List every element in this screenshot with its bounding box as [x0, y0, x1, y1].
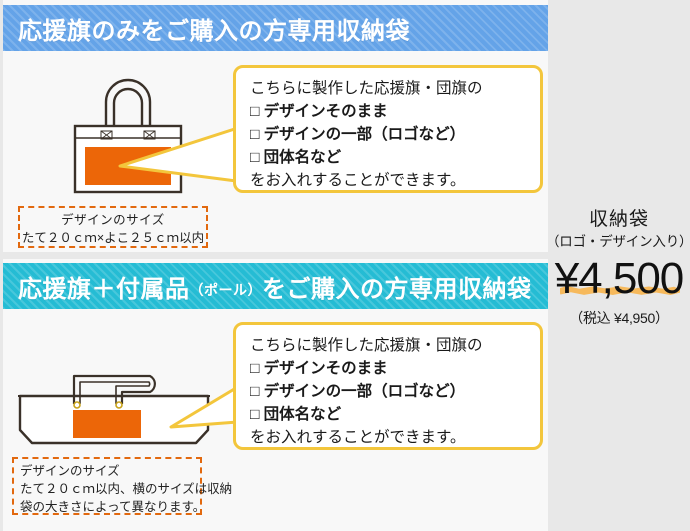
- callout-line-5: をお入れすることができます。: [250, 169, 540, 192]
- size-note-line-1: デザインのサイズ: [20, 462, 200, 480]
- section-two-header-text: 応援旗＋付属品（ポール）をご購入の方専用収納袋: [18, 269, 532, 304]
- callout-line-3: □ デザインの一部（ロゴなど）: [250, 123, 540, 146]
- price-amount: ¥4,500: [548, 256, 690, 302]
- callout-line-2: □ デザインそのまま: [250, 357, 540, 380]
- callout-two-text: こちらに製作した応援旗・団旗の □ デザインそのまま □ デザインの一部（ロゴな…: [236, 325, 540, 449]
- design-size-note-one: デザインのサイズ たて２０ｃｍ×よこ２５ｃｍ以内: [18, 206, 208, 248]
- callout-line-4: □ 団体名など: [250, 146, 540, 169]
- callout-line-1: こちらに製作した応援旗・団旗の: [250, 334, 540, 357]
- header-two-part-2: をご購入の方専用収納袋: [262, 276, 532, 303]
- section-two-header: 応援旗＋付属品（ポール）をご購入の方専用収納袋: [3, 263, 548, 309]
- design-area: [73, 410, 141, 438]
- callout-box-one: こちらに製作した応援旗・団旗の □ デザインそのまま □ デザインの一部（ロゴな…: [233, 65, 543, 193]
- callout-box-two: こちらに製作した応援旗・団旗の □ デザインそのまま □ デザインの一部（ロゴな…: [233, 322, 543, 450]
- callout-line-4: □ 団体名など: [250, 403, 540, 426]
- price-amount-wrap: ¥4,500: [548, 256, 690, 302]
- size-note-line-3: 袋の大きさによって異なります。: [20, 498, 200, 516]
- price-tax-included: （税込 ¥4,950）: [548, 307, 690, 329]
- callout-pointer-one: [108, 120, 248, 200]
- size-note-line-1: デザインのサイズ: [20, 211, 206, 229]
- callout-line-3: □ デザインの一部（ロゴなど）: [250, 380, 540, 403]
- price-product-subtitle: （ロゴ・デザイン入り）: [546, 232, 690, 252]
- size-note-line-2: たて２０ｃｍ×よこ２５ｃｍ以内: [20, 229, 206, 247]
- section-one-header-text: 応援旗のみをご購入の方専用収納袋: [18, 11, 410, 46]
- section-one-header: 応援旗のみをご購入の方専用収納袋: [3, 5, 548, 51]
- header-two-part-small: （ポール）: [190, 282, 263, 298]
- callout-line-2: □ デザインそのまま: [250, 100, 540, 123]
- callout-one-text: こちらに製作した応援旗・団旗の □ デザインそのまま □ デザインの一部（ロゴな…: [236, 68, 540, 192]
- design-size-note-two: デザインのサイズ たて２０ｃｍ以内、横のサイズは収納 袋の大きさによって異なりま…: [12, 457, 202, 515]
- price-panel: 収納袋 （ロゴ・デザイン入り） ¥4,500 （税込 ¥4,950）: [548, 0, 690, 531]
- price-block: 収納袋 （ロゴ・デザイン入り） ¥4,500 （税込 ¥4,950）: [548, 208, 690, 329]
- callout-line-5: をお入れすることができます。: [250, 426, 540, 449]
- size-note-line-2: たて２０ｃｍ以内、横のサイズは収納: [20, 480, 200, 498]
- product-storage-bag-page: 応援旗のみをご購入の方専用収納袋 こちらに製作した応援旗・団旗の □ デザインそ…: [0, 0, 690, 531]
- header-two-part-1: 応援旗＋付属品: [18, 276, 190, 303]
- price-product-name: 収納袋: [548, 208, 690, 232]
- callout-line-1: こちらに製作した応援旗・団旗の: [250, 77, 540, 100]
